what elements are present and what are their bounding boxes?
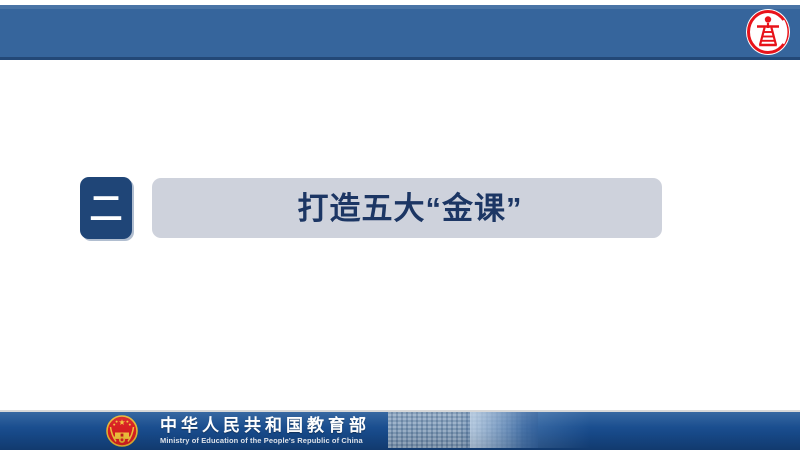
ministry-footer-banner: 中华人民共和国教育部 Ministry of Education of the … [0,410,800,450]
header-band-highlight [0,5,800,9]
national-emblem-icon [106,415,138,447]
university-logo [744,8,792,56]
section-number-label: 二 [90,192,123,225]
section-title-plate: 打造五大“金课” [152,178,662,238]
ministry-building-photo-fade [470,412,590,448]
slide-canvas: 二 打造五大“金课” [0,0,800,450]
ministry-name-group: 中华人民共和国教育部 Ministry of Education of the … [160,416,420,446]
header-band [0,5,800,60]
section-number-badge: 二 [80,177,132,239]
ministry-name-english: Ministry of Education of the People's Re… [160,436,420,446]
section-title-text: 打造五大“金课” [298,193,523,224]
ministry-name-chinese: 中华人民共和国教育部 [160,416,420,435]
